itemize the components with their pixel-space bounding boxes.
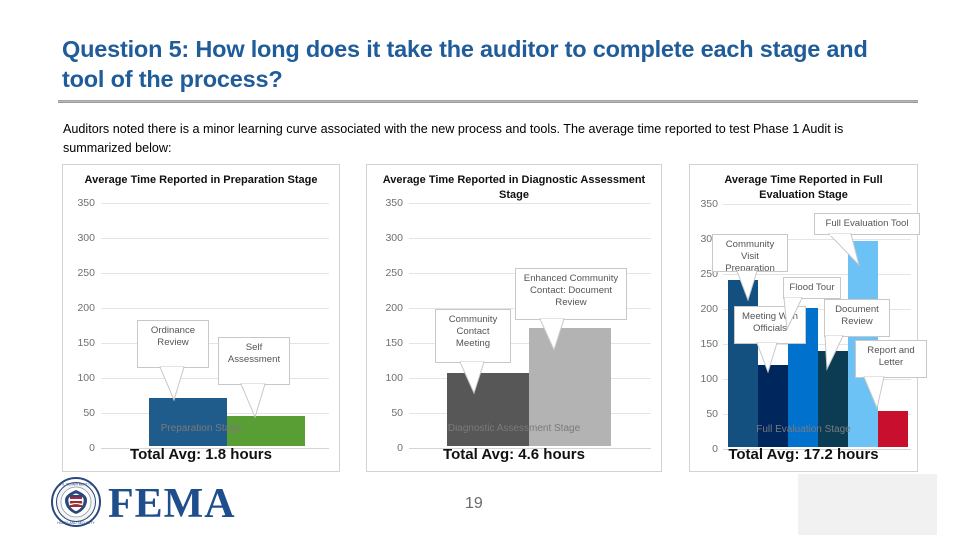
bar-ordinance-review[interactable] (149, 398, 227, 446)
callout-tail-icon (829, 234, 861, 266)
callout-tail-icon (540, 319, 570, 351)
gridline-300 (101, 238, 329, 239)
callout-document-review[interactable]: Document Review (824, 299, 890, 337)
ytick-150: 150 (367, 338, 403, 348)
footer-placeholder-block (798, 474, 937, 535)
callout-enhanced-community-contact[interactable]: Enhanced Community Contact: Document Rev… (515, 268, 627, 320)
ytick-350: 350 (690, 199, 718, 209)
xaxis-label-diagnostic: Diagnostic Assessment Stage (367, 423, 661, 434)
xaxis-label-preparation: Preparation Stage (63, 423, 339, 434)
page-number: 19 (465, 495, 483, 513)
ytick-50: 50 (63, 408, 95, 418)
callout-community-contact-meeting[interactable]: Community Contact Meeting (435, 309, 511, 363)
total-average-preparation: Total Avg: 1.8 hours (63, 446, 339, 463)
callout-label: Community Contact Meeting (449, 314, 498, 349)
ytick-100: 100 (367, 373, 403, 383)
callout-label: Document Review (835, 304, 879, 327)
ytick-300: 300 (63, 233, 95, 243)
ytick-200: 200 (690, 304, 718, 314)
ytick-300: 300 (367, 233, 403, 243)
callout-tail-icon (241, 384, 271, 418)
ytick-150: 150 (690, 339, 718, 349)
callout-self-assessment[interactable]: Self Assessment (218, 337, 290, 385)
callout-label: Report and Letter (867, 345, 914, 368)
callout-tail-icon (780, 298, 806, 330)
callout-tail-icon (160, 367, 190, 401)
ytick-350: 350 (367, 198, 403, 208)
chart-panel-preparation: Average Time Reported in Preparation Sta… (62, 164, 340, 472)
gridline-250 (101, 273, 329, 274)
total-average-diagnostic: Total Avg: 4.6 hours (367, 446, 661, 463)
callout-label: Self Assessment (228, 342, 280, 365)
callout-label: Full Evaluation Tool (825, 218, 908, 229)
chart-panel-full-evaluation: Average Time Reported in Full Evaluation… (689, 164, 918, 472)
callout-tail-icon (460, 362, 490, 394)
ytick-200: 200 (367, 303, 403, 313)
svg-text:U.S. DEPARTMENT OF: U.S. DEPARTMENT OF (59, 483, 93, 487)
intro-paragraph: Auditors noted there is a minor learning… (63, 120, 878, 158)
callout-community-visit-preparation[interactable]: Community Visit Preparation (712, 234, 788, 272)
gridline-150 (101, 343, 329, 344)
callout-report-and-letter[interactable]: Report and Letter (855, 340, 927, 378)
callout-full-evaluation-tool[interactable]: Full Evaluation Tool (814, 213, 920, 235)
page-title: Question 5: How long does it take the au… (62, 34, 892, 94)
ytick-100: 100 (63, 373, 95, 383)
gridline-200 (101, 308, 329, 309)
callout-label: Community Visit Preparation (725, 239, 775, 274)
callout-tail-icon (864, 377, 890, 409)
ytick-350: 350 (63, 198, 95, 208)
callout-label: Ordinance Review (151, 325, 195, 348)
callout-tail-icon (821, 336, 847, 370)
total-average-full-evaluation: Total Avg: 17.2 hours (690, 446, 917, 463)
fema-wordmark: FEMA (108, 479, 236, 529)
callout-flood-tour[interactable]: Flood Tour (783, 277, 841, 299)
xaxis-label-full-evaluation: Full Evaluation Stage (690, 424, 917, 435)
title-divider (58, 100, 918, 103)
gridline-350 (101, 203, 329, 204)
ytick-250: 250 (367, 268, 403, 278)
ytick-50: 50 (367, 408, 403, 418)
chart-panel-diagnostic: Average Time Reported in Diagnostic Asse… (366, 164, 662, 472)
ytick-150: 150 (63, 338, 95, 348)
gridline-100 (101, 378, 329, 379)
callout-label: Enhanced Community Contact: Document Rev… (524, 273, 618, 308)
callout-label: Flood Tour (789, 282, 834, 293)
ytick-200: 200 (63, 303, 95, 313)
svg-text:HOMELAND SECURITY: HOMELAND SECURITY (57, 521, 95, 525)
gridline-350 (409, 203, 651, 204)
gridline-300 (409, 238, 651, 239)
callout-ordinance-review[interactable]: Ordinance Review (137, 320, 209, 368)
ytick-50: 50 (690, 409, 718, 419)
gridline-350 (723, 204, 911, 205)
ytick-250: 250 (63, 268, 95, 278)
callout-tail-icon (757, 343, 783, 373)
ytick-100: 100 (690, 374, 718, 384)
callout-tail-icon (737, 271, 763, 301)
